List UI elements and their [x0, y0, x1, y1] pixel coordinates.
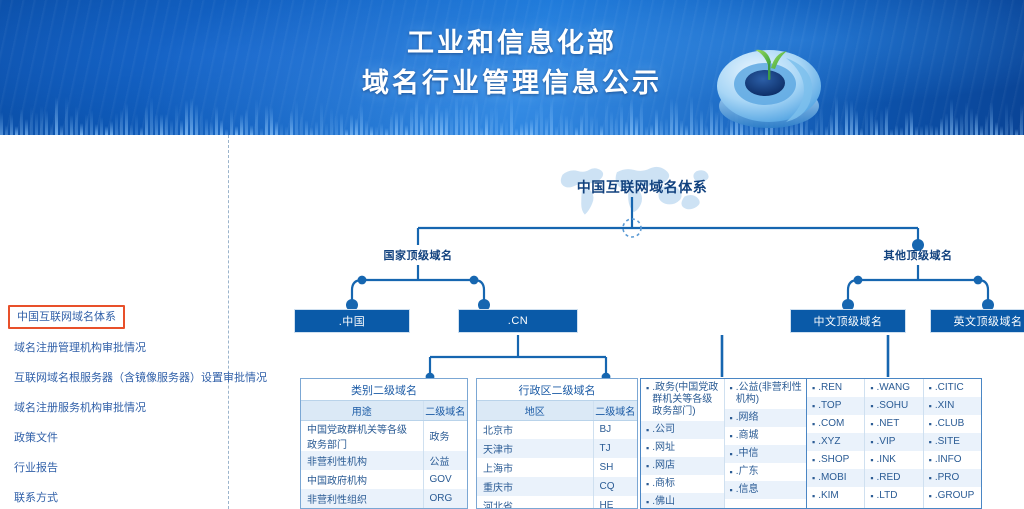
table-cell: GOV	[423, 470, 467, 489]
panel-column: ▪.WANG▪.SOHU▪.NET▪.VIP▪.INK▪.RED▪.LTD	[864, 379, 922, 508]
list-item-label: .SHOP	[818, 454, 849, 466]
bullet-icon: ▪	[646, 478, 649, 490]
list-item-label: .广东	[736, 466, 759, 478]
list-item-label: .XIN	[935, 400, 954, 412]
diagram-title: 中国互联网域名体系	[542, 177, 742, 197]
sidebar-item-2[interactable]: 互联网域名根服务器（含镜像服务器）设置审批情况	[0, 367, 226, 389]
list-item[interactable]: ▪.REN	[807, 379, 864, 397]
node-dot-china[interactable]: .中国	[294, 309, 410, 333]
table-cell: 上海市	[477, 458, 593, 477]
table-cell: ORG	[423, 489, 467, 508]
list-item[interactable]: ▪.商城	[725, 427, 808, 445]
list-item[interactable]: ▪.SITE	[924, 433, 981, 451]
list-item-label: .公司	[652, 424, 675, 436]
list-item[interactable]: ▪.XIN	[924, 397, 981, 415]
list-item[interactable]: ▪.网址	[641, 439, 724, 457]
bullet-icon: ▪	[870, 454, 873, 466]
list-item[interactable]: ▪.广东	[725, 463, 808, 481]
bullet-icon: ▪	[646, 496, 649, 508]
list-item-label: .REN	[818, 382, 842, 394]
branch-label-other-tld: 其他顶级域名	[858, 247, 978, 263]
table-cell: 中国政府机构	[301, 470, 423, 489]
table-row: 非营利性机构公益	[301, 451, 467, 470]
list-item[interactable]: ▪.COM	[807, 415, 864, 433]
bullet-icon: ▪	[646, 460, 649, 472]
list-item[interactable]: ▪.SOHU	[865, 397, 922, 415]
table-cell: 天津市	[477, 439, 593, 458]
table-header-cell: 用途	[301, 401, 423, 420]
table-cell: 中国党政群机关等各级政务部门	[301, 420, 423, 451]
list-item-label: .TOP	[818, 400, 841, 412]
list-item-label: .中信	[736, 448, 759, 460]
bullet-icon: ▪	[646, 382, 649, 394]
bullet-icon: ▪	[646, 424, 649, 436]
panel-english-tld-list: ▪.REN▪.TOP▪.COM▪.XYZ▪.SHOP▪.MOBI▪.KIM▪.W…	[806, 378, 982, 509]
table-row: 中国党政群机关等各级政务部门政务	[301, 420, 467, 451]
sidebar-item-1[interactable]: 域名注册管理机构审批情况	[0, 337, 226, 359]
table-cell: 非营利性机构	[301, 451, 423, 470]
node-chinese-tld[interactable]: 中文顶级域名	[790, 309, 906, 333]
list-item-label: .XYZ	[818, 436, 840, 448]
bullet-icon: ▪	[929, 490, 932, 502]
bullet-icon: ▪	[812, 490, 815, 502]
list-item[interactable]: ▪.中信	[725, 445, 808, 463]
list-item-label: .公益(非营利性机构)	[736, 382, 803, 406]
list-item-label: .LTD	[877, 490, 898, 502]
table-body: 地区二级域名北京市BJ天津市TJ上海市SH重庆市CQ河北省HE	[477, 401, 637, 509]
list-item-label: .佛山	[652, 496, 675, 508]
list-item-label: .RED	[877, 472, 901, 484]
bullet-icon: ▪	[929, 472, 932, 484]
domain-system-diagram: 中国互联网域名体系	[228, 135, 1024, 509]
table-caption: 行政区二级域名	[477, 379, 637, 401]
list-item-label: .网店	[652, 460, 675, 472]
bullet-icon: ▪	[730, 430, 733, 442]
list-item[interactable]: ▪.公司	[641, 421, 724, 439]
list-item-label: .CLUB	[935, 418, 964, 430]
table-row: 上海市SH	[477, 458, 637, 477]
table-row: 天津市TJ	[477, 439, 637, 458]
banner-title-group: 工业和信息化部 域名行业管理信息公示	[0, 26, 1024, 100]
list-item[interactable]: ▪.SHOP	[807, 451, 864, 469]
at-symbol-sprout-logo	[708, 28, 830, 132]
site-banner: 工业和信息化部 域名行业管理信息公示	[0, 0, 1024, 135]
table-row: 重庆市CQ	[477, 477, 637, 496]
table-cell: HE	[593, 496, 637, 509]
list-item-label: .CITIC	[935, 382, 964, 394]
bullet-icon: ▪	[929, 400, 932, 412]
list-item-label: .WANG	[877, 382, 911, 394]
table-region-second-level-domains: 行政区二级域名 地区二级域名北京市BJ天津市TJ上海市SH重庆市CQ河北省HE	[476, 378, 638, 509]
banner-skyline-bars	[0, 95, 1024, 135]
table-category-second-level-domains: 类别二级域名 用途二级域名中国党政群机关等各级政务部门政务非营利性机构公益中国政…	[300, 378, 468, 509]
list-item[interactable]: ▪.VIP	[865, 433, 922, 451]
bullet-icon: ▪	[812, 454, 815, 466]
table-row: 河北省HE	[477, 496, 637, 509]
list-item-label: .GROUP	[935, 490, 974, 502]
panel-column: ▪.REN▪.TOP▪.COM▪.XYZ▪.SHOP▪.MOBI▪.KIM	[807, 379, 864, 508]
list-item[interactable]: ▪.PRO	[924, 469, 981, 487]
list-item-label: .INFO	[935, 454, 962, 466]
table-row: 中国政府机构GOV	[301, 470, 467, 489]
bullet-icon: ▪	[929, 436, 932, 448]
list-item[interactable]: ▪.INFO	[924, 451, 981, 469]
list-item[interactable]: ▪.CLUB	[924, 415, 981, 433]
list-item-label: .网址	[652, 442, 675, 454]
list-item[interactable]: ▪.WANG	[865, 379, 922, 397]
list-item[interactable]: ▪.政务(中国党政群机关等各级政务部门)	[641, 379, 724, 421]
list-item-label: .PRO	[935, 472, 959, 484]
bullet-icon: ▪	[870, 490, 873, 502]
table-cell: BJ	[593, 420, 637, 439]
list-item-label: .COM	[818, 418, 844, 430]
list-item[interactable]: ▪.LTD	[865, 487, 922, 505]
table-caption: 类别二级域名	[301, 379, 467, 401]
table-body: 用途二级域名中国党政群机关等各级政务部门政务非营利性机构公益中国政府机构GOV非…	[301, 401, 467, 508]
list-item-label: .KIM	[818, 490, 839, 502]
list-item[interactable]: ▪.RED	[865, 469, 922, 487]
list-item-label: .INK	[877, 454, 896, 466]
list-item-label: .商城	[736, 430, 759, 442]
bullet-icon: ▪	[929, 382, 932, 394]
node-english-tld[interactable]: 英文顶级域名	[930, 309, 1024, 333]
list-item-label: .MOBI	[818, 472, 846, 484]
list-item[interactable]: ▪.商标	[641, 475, 724, 493]
table-cell: TJ	[593, 439, 637, 458]
bullet-icon: ▪	[870, 472, 873, 484]
bullet-icon: ▪	[929, 454, 932, 466]
table-cell: CQ	[593, 477, 637, 496]
list-item[interactable]: ▪.INK	[865, 451, 922, 469]
bullet-icon: ▪	[929, 418, 932, 430]
list-item[interactable]: ▪.佛山	[641, 493, 724, 509]
list-item[interactable]: ▪.信息	[725, 481, 808, 499]
list-item[interactable]: ▪.XYZ	[807, 433, 864, 451]
bullet-icon: ▪	[812, 382, 815, 394]
sidebar-item-3[interactable]: 域名注册服务机构审批情况	[0, 397, 226, 419]
table-cell: 非营利性组织	[301, 489, 423, 508]
list-item[interactable]: ▪.公益(非营利性机构)	[725, 379, 808, 409]
bullet-icon: ▪	[870, 436, 873, 448]
table-cell: 公益	[423, 451, 467, 470]
branch-label-country-tld: 国家顶级域名	[358, 247, 478, 263]
sidebar-item-5[interactable]: 行业报告	[0, 457, 226, 479]
bullet-icon: ▪	[730, 382, 733, 394]
list-item-label: .网络	[736, 412, 759, 424]
sidebar-nav: 中国互联网域名体系域名注册管理机构审批情况互联网域名根服务器（含镜像服务器）设置…	[0, 305, 226, 509]
table-row: 北京市BJ	[477, 420, 637, 439]
list-item-label: .SOHU	[877, 400, 909, 412]
bullet-icon: ▪	[870, 418, 873, 430]
bullet-icon: ▪	[730, 484, 733, 496]
sidebar-item-0[interactable]: 中国互联网域名体系	[8, 305, 125, 329]
table-cell: 河北省	[477, 496, 593, 509]
list-item[interactable]: ▪.网络	[725, 409, 808, 427]
table-header-cell: 二级域名	[423, 401, 467, 420]
list-item[interactable]: ▪.GROUP	[924, 487, 981, 505]
list-item[interactable]: ▪.CITIC	[924, 379, 981, 397]
list-item-label: .VIP	[877, 436, 896, 448]
list-item-label: .商标	[652, 478, 675, 490]
list-item[interactable]: ▪.KIM	[807, 487, 864, 505]
list-item-label: .SITE	[935, 436, 960, 448]
sidebar-item-6[interactable]: 联系方式	[0, 487, 226, 509]
table-cell: SH	[593, 458, 637, 477]
table-header-cell: 二级域名	[593, 401, 637, 420]
list-item[interactable]: ▪.NET	[865, 415, 922, 433]
list-item-label: .政务(中国党政群机关等各级政务部门)	[652, 382, 719, 418]
bullet-icon: ▪	[812, 418, 815, 430]
table-cell: 重庆市	[477, 477, 593, 496]
table-row: 非营利性组织ORG	[301, 489, 467, 508]
list-item[interactable]: ▪.网店	[641, 457, 724, 475]
page-body: 中国互联网域名体系域名注册管理机构审批情况互联网域名根服务器（含镜像服务器）设置…	[0, 135, 1024, 509]
bullet-icon: ▪	[730, 448, 733, 460]
sidebar-item-4[interactable]: 政策文件	[0, 427, 226, 449]
node-dot-cn[interactable]: .CN	[458, 309, 578, 333]
banner-title-line2: 域名行业管理信息公示	[0, 66, 1024, 100]
panel-chinese-tld-list: ▪.政务(中国党政群机关等各级政务部门)▪.公司▪.网址▪.网店▪.商标▪.佛山…	[640, 378, 808, 509]
bullet-icon: ▪	[646, 442, 649, 454]
bullet-icon: ▪	[812, 400, 815, 412]
list-item[interactable]: ▪.TOP	[807, 397, 864, 415]
bullet-icon: ▪	[730, 466, 733, 478]
bullet-icon: ▪	[870, 400, 873, 412]
banner-title-line1: 工业和信息化部	[0, 26, 1024, 60]
list-item[interactable]: ▪.MOBI	[807, 469, 864, 487]
bullet-icon: ▪	[812, 436, 815, 448]
bullet-icon: ▪	[812, 472, 815, 484]
panel-column: ▪.CITIC▪.XIN▪.CLUB▪.SITE▪.INFO▪.PRO▪.GRO…	[923, 379, 981, 508]
table-cell: 政务	[423, 420, 467, 451]
bullet-icon: ▪	[870, 382, 873, 394]
bullet-icon: ▪	[730, 412, 733, 424]
list-item-label: .NET	[877, 418, 900, 430]
table-cell: 北京市	[477, 420, 593, 439]
panel-column: ▪.公益(非营利性机构)▪.网络▪.商城▪.中信▪.广东▪.信息	[724, 379, 808, 508]
list-item-label: .信息	[736, 484, 759, 496]
table-header-cell: 地区	[477, 401, 593, 420]
panel-column: ▪.政务(中国党政群机关等各级政务部门)▪.公司▪.网址▪.网店▪.商标▪.佛山	[641, 379, 724, 508]
